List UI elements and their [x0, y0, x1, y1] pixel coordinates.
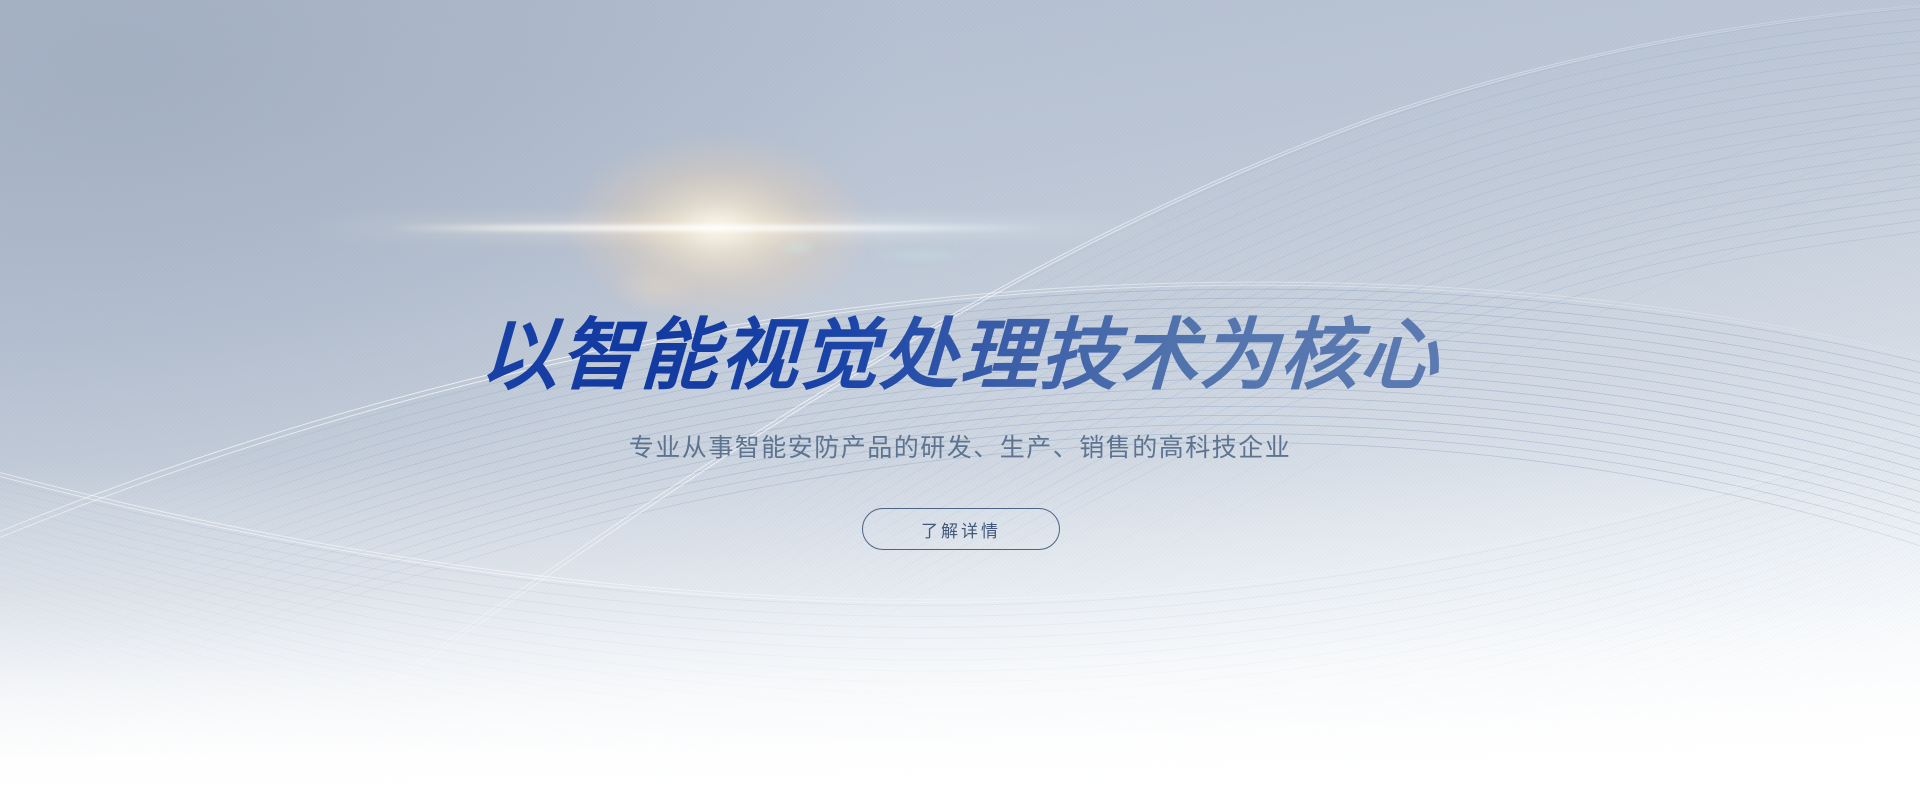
learn-more-button[interactable]: 了解详情 [862, 508, 1060, 550]
hero-banner: 以智能视觉处理技术为核心 专业从事智能安防产品的研发、生产、销售的高科技企业 了… [0, 0, 1920, 800]
hero-headline: 以智能视觉处理技术为核心 [0, 310, 1920, 402]
hero-content: 以智能视觉处理技术为核心 专业从事智能安防产品的研发、生产、销售的高科技企业 了… [0, 0, 1920, 800]
hero-subtitle: 专业从事智能安防产品的研发、生产、销售的高科技企业 [0, 429, 1920, 467]
